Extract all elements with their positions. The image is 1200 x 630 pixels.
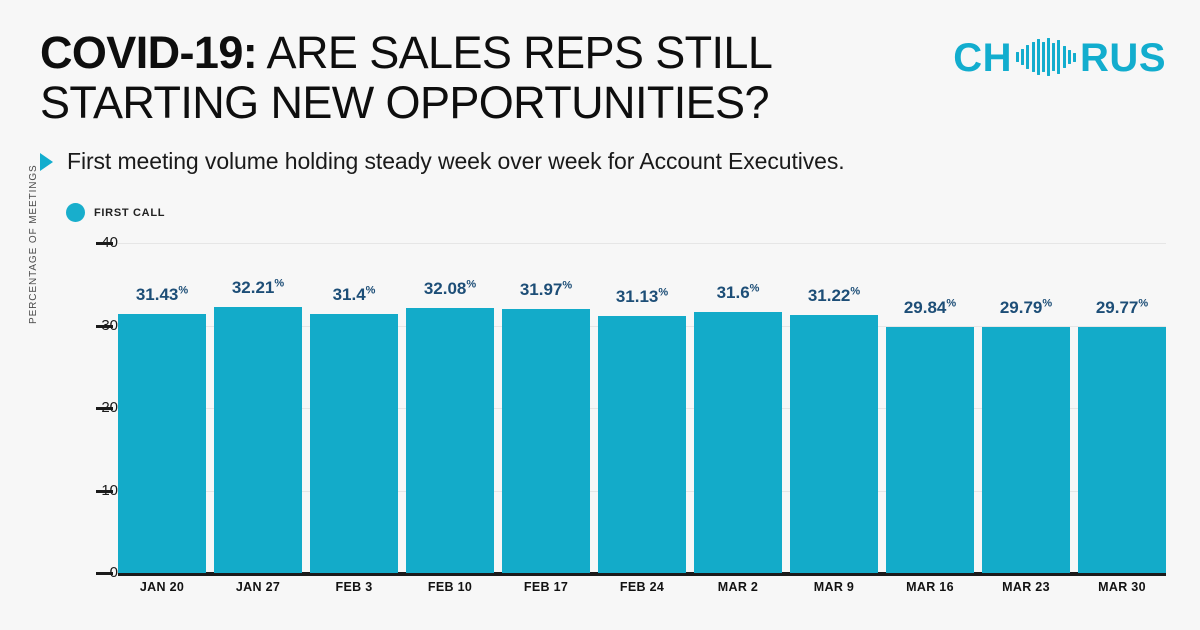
bar-value-label: 29.77% bbox=[1078, 298, 1166, 318]
bar[interactable] bbox=[982, 327, 1070, 573]
y-axis-tick-label: 0 bbox=[58, 564, 118, 581]
bar-value-label: 29.79% bbox=[982, 298, 1070, 318]
bar-column[interactable]: 31.22% bbox=[790, 243, 878, 573]
x-axis-label: MAR 23 bbox=[982, 580, 1070, 594]
x-axis-label: FEB 10 bbox=[406, 580, 494, 594]
x-axis-labels: JAN 20JAN 27FEB 3FEB 10FEB 17FEB 24MAR 2… bbox=[118, 580, 1166, 594]
bar[interactable] bbox=[406, 308, 494, 573]
bar-value-label: 31.13% bbox=[598, 287, 686, 307]
bar[interactable] bbox=[790, 315, 878, 573]
bar-value-label: 29.84% bbox=[886, 298, 974, 318]
x-axis-label: FEB 17 bbox=[502, 580, 590, 594]
y-axis-tick-label: 40 bbox=[58, 234, 118, 251]
x-axis-label: FEB 3 bbox=[310, 580, 398, 594]
x-axis-label: MAR 30 bbox=[1078, 580, 1166, 594]
bar-value-label: 32.08% bbox=[406, 279, 494, 299]
bar-value-label: 31.4% bbox=[310, 285, 398, 305]
bar[interactable] bbox=[118, 314, 206, 573]
bar-column[interactable]: 32.08% bbox=[406, 243, 494, 573]
x-axis-label: MAR 9 bbox=[790, 580, 878, 594]
bar-value-label: 31.22% bbox=[790, 286, 878, 306]
x-axis-label: MAR 16 bbox=[886, 580, 974, 594]
x-axis-label: FEB 24 bbox=[598, 580, 686, 594]
bar-column[interactable]: 31.97% bbox=[502, 243, 590, 573]
x-axis-label: MAR 2 bbox=[694, 580, 782, 594]
bar-column[interactable]: 29.79% bbox=[982, 243, 1070, 573]
bar-column[interactable]: 29.77% bbox=[1078, 243, 1166, 573]
bar-column[interactable]: 31.6% bbox=[694, 243, 782, 573]
bar-value-label: 32.21% bbox=[214, 278, 302, 298]
y-axis-title: PERCENTAGE OF MEETINGS bbox=[28, 84, 39, 324]
bar[interactable] bbox=[598, 316, 686, 573]
bar[interactable] bbox=[694, 312, 782, 573]
bar-chart: PERCENTAGE OF MEETINGS 010203040 31.43%3… bbox=[0, 0, 1200, 630]
bar-column[interactable]: 32.21% bbox=[214, 243, 302, 573]
y-axis-tick-label: 10 bbox=[58, 482, 118, 499]
bar[interactable] bbox=[310, 314, 398, 573]
bar-column[interactable]: 31.43% bbox=[118, 243, 206, 573]
y-axis-tick-label: 20 bbox=[58, 399, 118, 416]
bar[interactable] bbox=[1078, 327, 1166, 573]
bar-column[interactable]: 31.4% bbox=[310, 243, 398, 573]
bar-column[interactable]: 29.84% bbox=[886, 243, 974, 573]
bar[interactable] bbox=[886, 327, 974, 573]
x-axis-label: JAN 27 bbox=[214, 580, 302, 594]
bar[interactable] bbox=[214, 307, 302, 573]
y-axis-tick-label: 30 bbox=[58, 317, 118, 334]
bar-series-first-call: 31.43%32.21%31.4%32.08%31.97%31.13%31.6%… bbox=[118, 243, 1166, 573]
bar-column[interactable]: 31.13% bbox=[598, 243, 686, 573]
bar[interactable] bbox=[502, 309, 590, 573]
bar-value-label: 31.43% bbox=[118, 285, 206, 305]
x-axis-label: JAN 20 bbox=[118, 580, 206, 594]
bar-value-label: 31.97% bbox=[502, 280, 590, 300]
bar-value-label: 31.6% bbox=[694, 283, 782, 303]
